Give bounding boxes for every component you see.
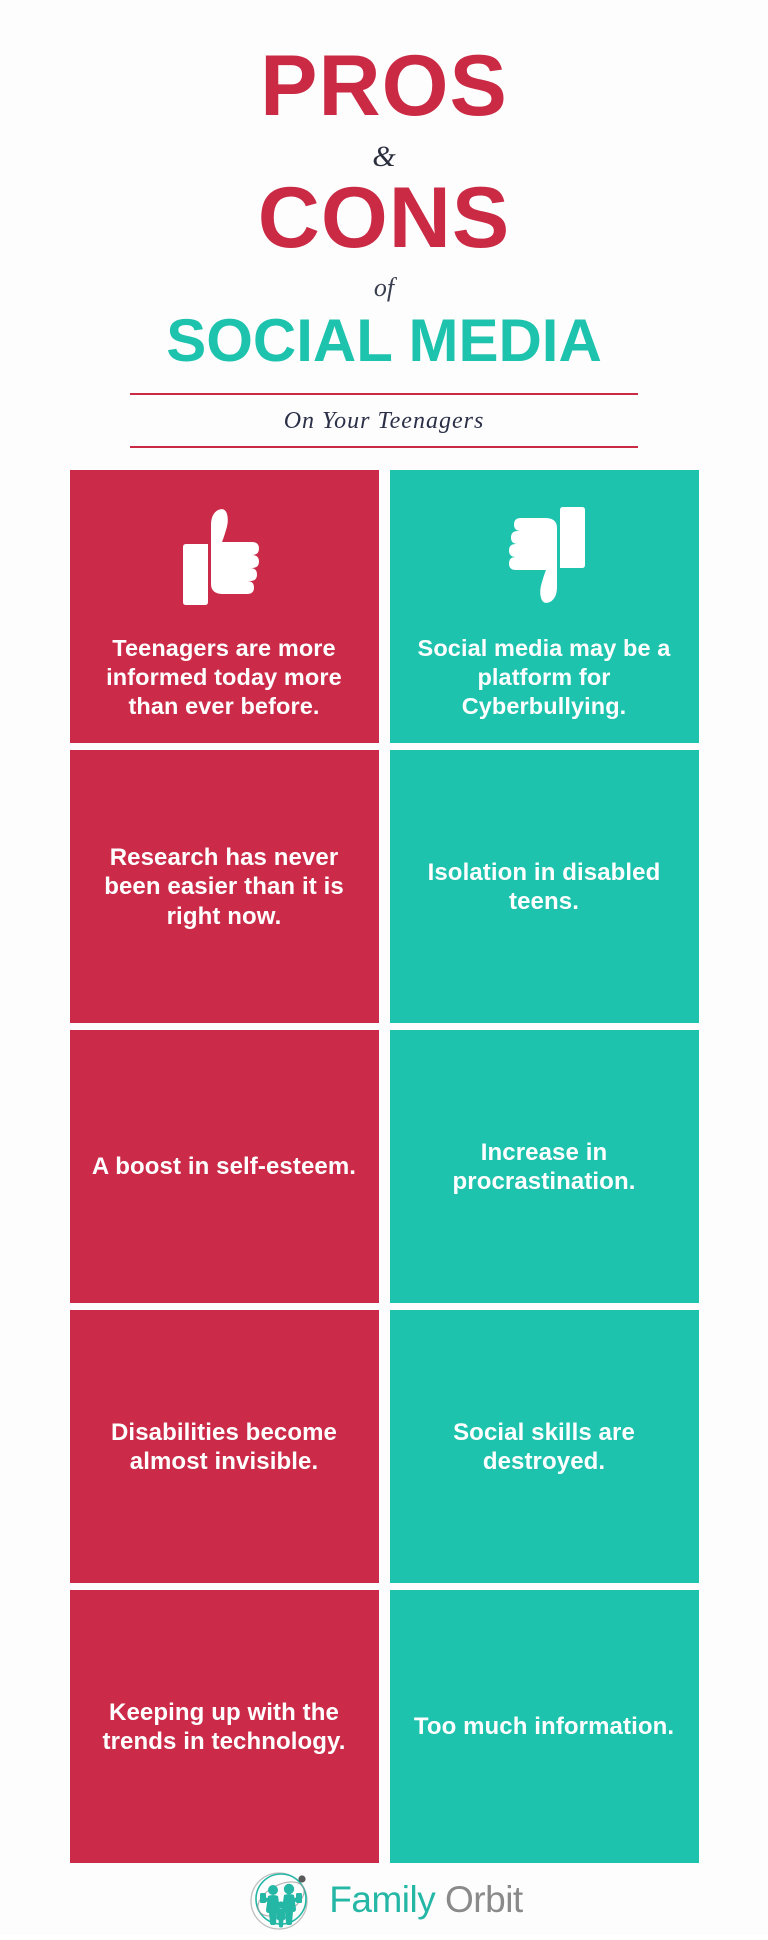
pros-cons-grid: Teenagers are more informed today more t… <box>0 470 768 1863</box>
divider-rule-bottom <box>130 446 638 448</box>
pro-card-4-text: Disabilities become almost invisible. <box>92 1418 357 1477</box>
pro-card-5: Keeping up with the trends in technology… <box>70 1590 379 1863</box>
logo-wordmark: Family Orbit <box>329 1881 522 1918</box>
pro-card-1: Teenagers are more informed today more t… <box>70 470 379 743</box>
family-orbit-emblem-icon <box>245 1863 317 1935</box>
subtitle-block: On Your Teenagers <box>130 393 638 448</box>
con-card-4: Social skills are destroyed. <box>390 1310 699 1583</box>
title-pros: PROS <box>0 46 768 128</box>
con-card-3: Increase in procrastination. <box>390 1030 699 1303</box>
infographic-poster: PROS & CONS of SOCIAL MEDIA On Your Teen… <box>0 0 768 1920</box>
subtitle-on-your-teenagers: On Your Teenagers <box>130 395 638 446</box>
logo-family-text: Family <box>329 1879 435 1920</box>
pro-card-4: Disabilities become almost invisible. <box>70 1310 379 1583</box>
con-card-2-text: Isolation in disabled teens. <box>412 858 677 917</box>
pro-card-1-text: Teenagers are more informed today more t… <box>92 634 357 720</box>
logo-orbit-text: Orbit <box>445 1879 523 1920</box>
poster-header: PROS & CONS of SOCIAL MEDIA On Your Teen… <box>0 0 768 448</box>
con-card-2: Isolation in disabled teens. <box>390 750 699 1023</box>
thumbs-down-icon <box>496 504 592 608</box>
thumbs-up-icon <box>176 504 272 608</box>
pro-card-2-text: Research has never been easier than it i… <box>92 843 357 931</box>
pro-card-3-text: A boost in self-esteem. <box>92 1152 356 1181</box>
poster-footer: Family Orbit <box>0 1863 768 1935</box>
pro-card-2: Research has never been easier than it i… <box>70 750 379 1023</box>
con-card-5-text: Too much information. <box>414 1712 674 1741</box>
pro-card-5-text: Keeping up with the trends in technology… <box>92 1698 357 1757</box>
family-orbit-logo[interactable]: Family Orbit <box>245 1863 522 1935</box>
con-card-5: Too much information. <box>390 1590 699 1863</box>
pro-card-3: A boost in self-esteem. <box>70 1030 379 1303</box>
title-social-media: SOCIAL MEDIA <box>0 311 768 371</box>
con-card-3-text: Increase in procrastination. <box>412 1138 677 1197</box>
title-cons: CONS <box>0 178 768 260</box>
connector-of: of <box>0 275 768 301</box>
con-card-4-text: Social skills are destroyed. <box>412 1418 677 1477</box>
con-card-1: Social media may be a platform for Cyber… <box>390 470 699 743</box>
ampersand-glyph: & <box>0 142 768 172</box>
con-card-1-text: Social media may be a platform for Cyber… <box>412 634 677 720</box>
